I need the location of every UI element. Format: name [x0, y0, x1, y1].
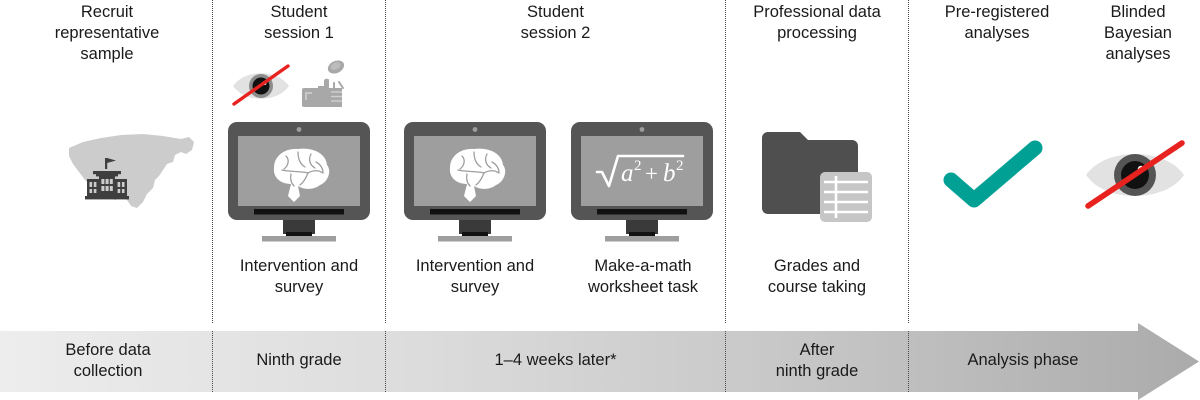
caption-line: Make-a-math [558, 256, 728, 277]
caption-session2-intervention: Intervention and survey [392, 256, 558, 298]
folder-with-spreadsheet-icon [760, 128, 875, 224]
column-title-line: analyses [912, 23, 1082, 44]
computer-monitor-brain-icon-1 [228, 122, 370, 244]
caption-line: course taking [729, 277, 905, 298]
caption-grades-and-course-taking: Grades and course taking [729, 256, 905, 298]
phase-label-weeks-later: 1–4 weeks later* [389, 350, 722, 371]
column-title-line: processing [729, 23, 905, 44]
phase-label-line: 1–4 weeks later* [389, 350, 722, 371]
phase-label-line: collection [26, 361, 190, 382]
column-title-line: Recruit [22, 2, 192, 23]
column-title-student-session-1: Student session 1 [216, 2, 382, 44]
phase-label-ninth-grade: Ninth grade [216, 350, 382, 371]
column-title-professional-data-processing: Professional data processing [729, 2, 905, 44]
column-title-line: Blinded [1080, 2, 1196, 23]
phase-label-line: Ninth grade [216, 350, 382, 371]
phase-label-line: After [729, 340, 905, 361]
caption-line: Grades and [729, 256, 905, 277]
band-divider-3 [725, 331, 726, 392]
caption-session1-intervention: Intervention and survey [216, 256, 382, 298]
column-title-blinded-bayesian-analyses: Blinded Bayesian analyses [1080, 2, 1196, 65]
caption-line: Intervention and [216, 256, 382, 277]
computer-monitor-math-icon: a 2 + b 2 [571, 122, 713, 244]
spreadsheet-icon [820, 172, 872, 222]
caption-line: survey [392, 277, 558, 298]
band-divider-1 [212, 331, 213, 392]
math-plus-sign: + [645, 161, 658, 186]
column-title-recruit: Recruit representative sample [22, 2, 192, 65]
blinded-eye-icon-session1 [231, 63, 293, 109]
study-phase-arrow: Before data collection Ninth grade 1–4 w… [0, 323, 1200, 400]
blinded-eye-icon-analyses [1083, 138, 1187, 212]
column-title-line: Professional data [729, 2, 905, 23]
caption-line: worksheet task [558, 277, 728, 298]
column-divider-1 [212, 0, 213, 323]
column-title-line: Pre-registered [912, 2, 1082, 23]
study-design-flow-diagram: Recruit representative sample Student se… [0, 0, 1200, 400]
phase-label-before-data-collection: Before data collection [26, 340, 190, 382]
math-exponent-b: 2 [676, 158, 684, 174]
math-exponent-a: 2 [634, 158, 642, 174]
column-title-pre-registered-analyses: Pre-registered analyses [912, 2, 1082, 44]
band-divider-2 [385, 331, 386, 392]
math-radicand-b: b [663, 160, 676, 187]
phase-label-line: Before data [26, 340, 190, 361]
column-divider-2 [385, 0, 386, 323]
usa-map-with-building-icon [63, 124, 203, 224]
column-title-student-session-2: Student session 2 [389, 2, 722, 44]
phase-label-line: Analysis phase [912, 350, 1134, 371]
band-divider-4 [908, 331, 909, 392]
teal-checkmark-icon [943, 142, 1043, 208]
usa-map-icon [63, 124, 203, 224]
computer-monitor-brain-icon-2 [404, 122, 546, 244]
column-title-line: session 1 [216, 23, 382, 44]
phase-label-line: ninth grade [729, 361, 905, 382]
coin-flip-hand-icon [298, 58, 356, 112]
column-title-line: Student [216, 2, 382, 23]
phase-label-after-ninth-grade: After ninth grade [729, 340, 905, 382]
caption-line: Intervention and [392, 256, 558, 277]
phase-label-analysis-phase: Analysis phase [912, 350, 1134, 371]
column-title-line: Bayesian [1080, 23, 1196, 44]
column-title-line: sample [22, 44, 192, 65]
column-title-line: representative [22, 23, 192, 44]
column-title-line: session 2 [389, 23, 722, 44]
caption-line: survey [216, 277, 382, 298]
column-divider-4 [908, 0, 909, 323]
math-radicand-a: a [621, 160, 634, 187]
column-title-line: Student [389, 2, 722, 23]
column-title-line: analyses [1080, 44, 1196, 65]
caption-make-a-math-worksheet: Make-a-math worksheet task [558, 256, 728, 298]
